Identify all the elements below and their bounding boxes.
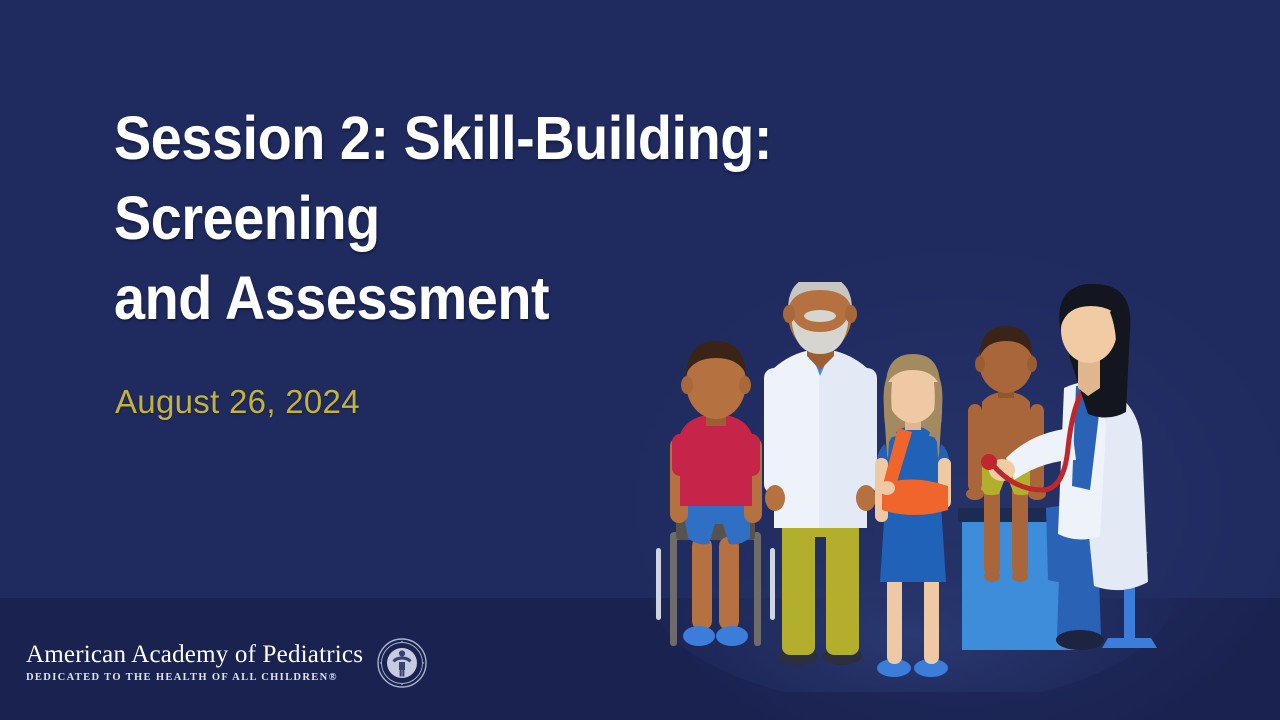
aap-logo-text: American Academy of Pediatrics DEDICATED…	[26, 641, 363, 685]
title-slide: Session 2: Skill-Building: Screening and…	[0, 0, 1280, 720]
session-date: August 26, 2024	[115, 383, 360, 421]
aap-seal-icon	[377, 638, 427, 688]
aap-logo: American Academy of Pediatrics DEDICATED…	[26, 638, 427, 688]
organization-name: American Academy of Pediatrics	[26, 641, 363, 669]
organization-tagline: DEDICATED TO THE HEALTH OF ALL CHILDREN®	[26, 671, 363, 685]
pediatric-care-scene-illustration	[646, 282, 1180, 692]
